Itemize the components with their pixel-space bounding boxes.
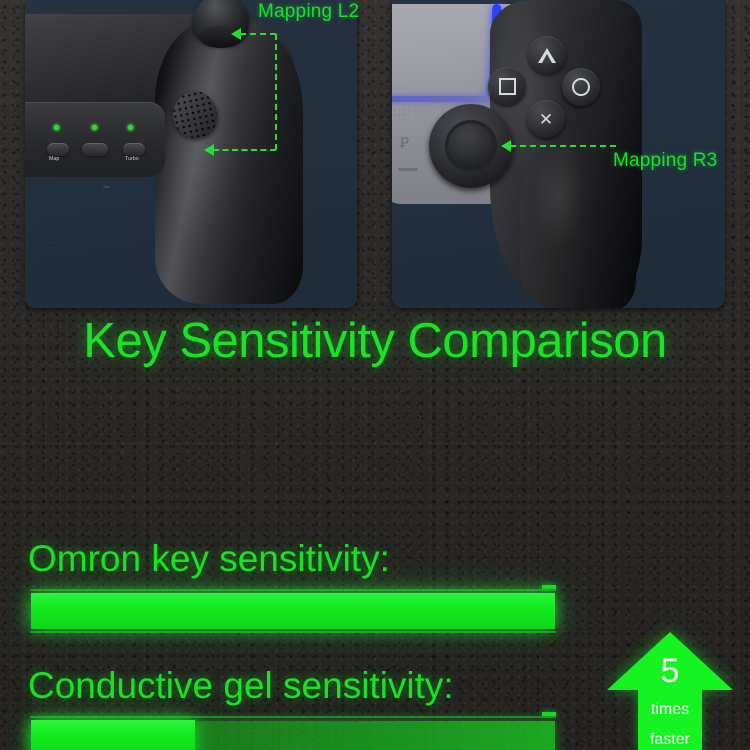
led-indicator-1 — [54, 125, 59, 130]
speaker-holes-icon: ········ — [394, 108, 411, 118]
conductive-gel-sensitivity-bar — [30, 716, 556, 750]
annotation-line-top-l2 — [240, 33, 276, 35]
square-icon — [499, 78, 516, 95]
circle-icon — [572, 78, 590, 96]
mapping-r3-label: Mapping R3 — [613, 150, 717, 172]
annotation-arrowhead-r3 — [501, 140, 511, 152]
back-vent-slot — [103, 186, 110, 188]
controller-back-plate: ··· — [25, 102, 165, 177]
home-button[interactable] — [398, 168, 418, 171]
led-indicator-2 — [92, 125, 97, 130]
turbo-button[interactable] — [123, 143, 145, 156]
light-bar-horizontal — [392, 96, 504, 102]
map-button-label: Map — [49, 156, 59, 162]
bar-fill — [31, 593, 555, 629]
conductive-gel-sensitivity-label: Conductive gel sensitivity: — [28, 665, 454, 707]
annotation-line-bottom-l2 — [213, 149, 276, 151]
page-title: Key Sensitivity Comparison — [0, 313, 750, 369]
panel-controller-back: ··· Map Turbo — [25, 0, 357, 308]
bar-end-tick — [542, 585, 556, 589]
cross-button[interactable]: ✕ — [527, 100, 565, 138]
bar-fill — [31, 720, 195, 750]
infographic-page: ··· Map Turbo Mapping L2 ········ Ꝑ ✕ — [0, 0, 750, 750]
turbo-button-label: Turbo — [125, 156, 139, 162]
controller-back-grip — [155, 22, 303, 304]
mapping-l2-label: Mapping L2 — [258, 1, 359, 23]
annotation-arrowhead-stick — [231, 28, 241, 40]
annotation-line-vertical-l2 — [275, 34, 277, 150]
multiplier-times-text: times — [607, 702, 733, 718]
triangle-icon — [538, 48, 556, 63]
circle-button[interactable] — [562, 68, 600, 106]
playstation-logo-icon: Ꝑ — [400, 134, 416, 152]
omron-sensitivity-label: Omron key sensitivity: — [28, 538, 390, 580]
bar-end-tick — [542, 712, 556, 716]
switch-dots-icon: ··· — [45, 240, 58, 245]
annotation-arrowhead-paddle — [204, 144, 214, 156]
triangle-button[interactable] — [528, 36, 566, 74]
mode-switch[interactable] — [82, 143, 108, 156]
cross-icon: ✕ — [539, 111, 553, 128]
map-button[interactable] — [47, 143, 69, 156]
up-arrow-icon: 5 times faster — [607, 632, 733, 750]
multiplier-number: 5 — [607, 654, 733, 688]
multiplier-faster-text: faster — [607, 732, 733, 748]
omron-sensitivity-bar — [30, 589, 556, 633]
square-button[interactable] — [488, 67, 526, 105]
led-indicator-3 — [128, 125, 133, 130]
annotation-line-r3 — [510, 145, 616, 147]
